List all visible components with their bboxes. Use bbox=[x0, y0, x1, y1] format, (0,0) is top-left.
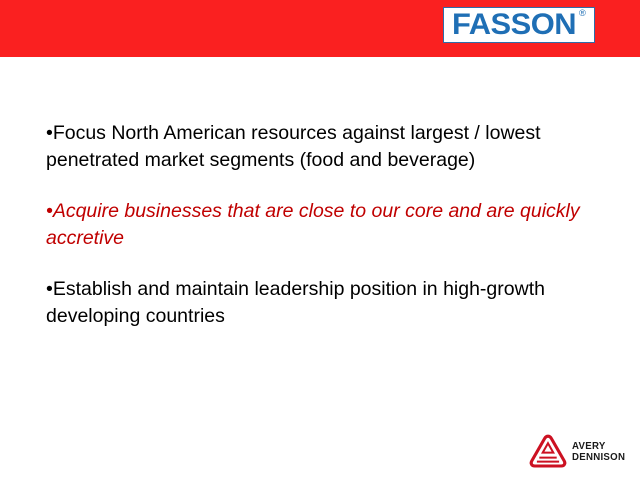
registered-trademark-icon: ® bbox=[579, 9, 585, 18]
bullet-list: •Focus North American resources against … bbox=[46, 120, 586, 330]
bullet-glyph-icon: • bbox=[46, 200, 53, 222]
bullet-item-text: Establish and maintain leadership positi… bbox=[46, 278, 545, 327]
avery-wordmark-line2: DENNISON bbox=[572, 452, 625, 463]
avery-dennison-wordmark: AVERY DENNISON bbox=[572, 441, 630, 463]
bullet-glyph-icon: • bbox=[46, 122, 53, 144]
bullet-item: •Establish and maintain leadership posit… bbox=[46, 276, 586, 330]
slide-canvas: FASSON ® •Focus North American resources… bbox=[0, 0, 640, 480]
fasson-logo: FASSON ® bbox=[443, 7, 595, 43]
bullet-item-text: Acquire businesses that are close to our… bbox=[46, 200, 580, 249]
avery-triangle-icon bbox=[528, 433, 568, 471]
bullet-item: •Focus North American resources against … bbox=[46, 120, 586, 174]
bullet-item: •Acquire businesses that are close to ou… bbox=[46, 198, 586, 252]
fasson-wordmark-text: FASSON bbox=[452, 8, 576, 41]
bullet-glyph-icon: • bbox=[46, 278, 53, 300]
avery-dennison-logo: AVERY DENNISON bbox=[528, 430, 632, 474]
fasson-wordmark: FASSON ® bbox=[452, 10, 585, 40]
bullet-item-text: Focus North American resources against l… bbox=[46, 122, 541, 171]
